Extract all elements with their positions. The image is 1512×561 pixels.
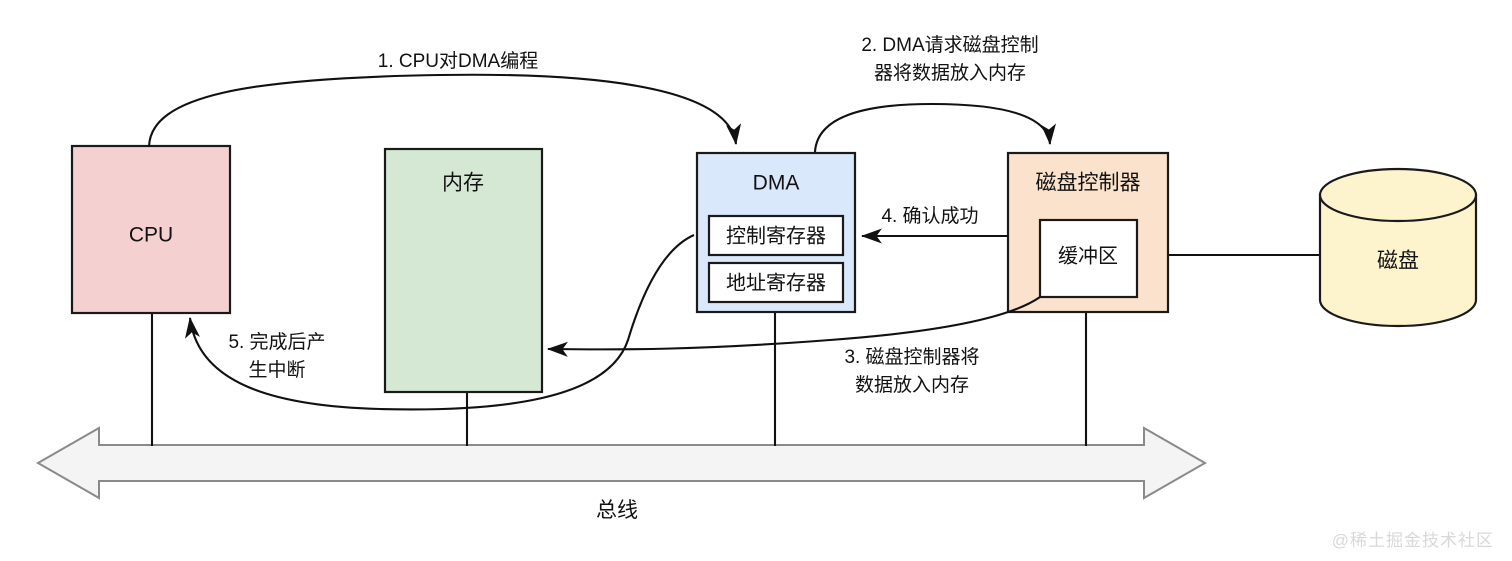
dma-label: DMA	[753, 172, 800, 195]
dma-register-control[interactable]: 控制寄存器	[709, 216, 843, 255]
dma-register-address[interactable]: 地址寄存器	[709, 263, 843, 302]
node-disk[interactable]: 磁盘	[1320, 169, 1476, 326]
diagram-canvas: 总线 CPU 内存 DMA 控制寄存器	[0, 0, 1512, 561]
node-cpu[interactable]: CPU	[72, 146, 230, 313]
flow-arrow-2	[815, 104, 1050, 152]
disk-label: 磁盘	[1377, 250, 1419, 273]
step-5-line-1: 5. 完成后产	[228, 331, 325, 353]
step-1-line-1: 1. CPU对DMA编程	[378, 50, 538, 72]
disk-cylinder-top[interactable]	[1320, 169, 1476, 221]
cpu-label: CPU	[129, 224, 173, 247]
step-3-line-1: 3. 磁盘控制器将	[844, 346, 979, 368]
bus-arrow-shape	[38, 428, 1205, 498]
disk-controller-label: 磁盘控制器	[1036, 172, 1141, 195]
watermark: @稀土掘金技术社区	[1332, 526, 1494, 551]
bus-label: 总线	[596, 499, 638, 522]
control-register-label: 控制寄存器	[726, 224, 826, 247]
step-label-4: 4. 确认成功	[881, 205, 978, 227]
node-memory[interactable]: 内存	[385, 149, 542, 392]
step-2-line-2: 器将数据放入内存	[874, 62, 1026, 84]
dma-flow-diagram: 总线 CPU 内存 DMA 控制寄存器	[0, 0, 1512, 561]
node-dma[interactable]: DMA 控制寄存器 地址寄存器	[697, 153, 855, 312]
system-bus: 总线	[38, 428, 1205, 522]
disk-controller-buffer[interactable]: 缓冲区	[1040, 220, 1137, 297]
flow-arrow-1	[149, 75, 736, 147]
step-label-1: 1. CPU对DMA编程	[378, 50, 538, 72]
step-label-5: 5. 完成后产 生中断	[228, 331, 325, 381]
step-3-line-2: 数据放入内存	[855, 374, 969, 396]
step-label-3: 3. 磁盘控制器将 数据放入内存	[844, 346, 979, 396]
step-label-2: 2. DMA请求磁盘控制 器将数据放入内存	[861, 34, 1038, 84]
memory-label: 内存	[442, 172, 484, 195]
step-4-line-1: 4. 确认成功	[881, 205, 978, 227]
step-2-line-1: 2. DMA请求磁盘控制	[861, 34, 1038, 56]
node-disk-controller[interactable]: 磁盘控制器 缓冲区	[1008, 153, 1168, 312]
buffer-label: 缓冲区	[1058, 244, 1118, 267]
address-register-label: 地址寄存器	[726, 271, 826, 294]
step-5-line-2: 生中断	[248, 359, 305, 381]
